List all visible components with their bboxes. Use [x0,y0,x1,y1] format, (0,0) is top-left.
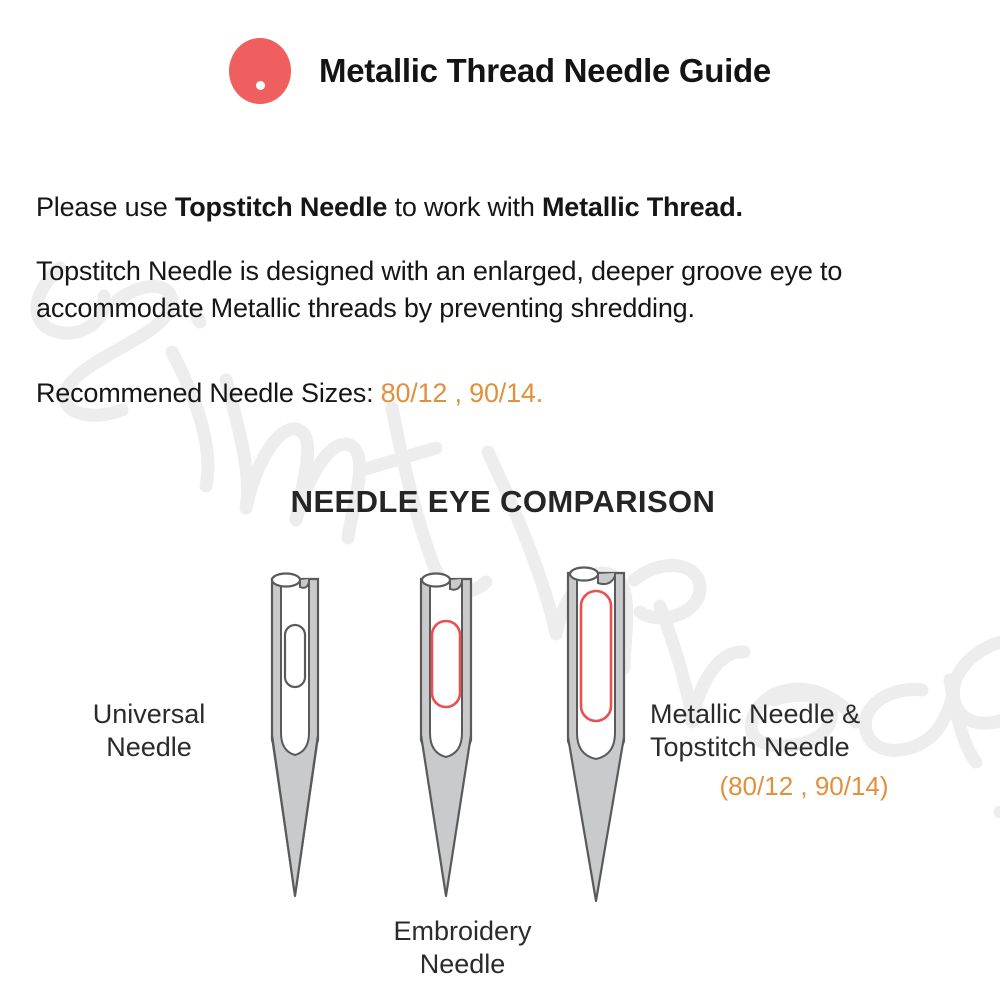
recommended-sizes-line: Recommened Needle Sizes: 80/12 , 90/14. [36,375,543,412]
embroidery-label-line2: Needle [420,949,506,979]
intro-bold-topstitch: Topstitch Needle [175,192,387,222]
embroidery-label-line1: Embroidery [393,916,531,946]
intro-middle: to work with [387,192,542,222]
intro-bold-metallic: Metallic Thread. [542,192,743,222]
document-page: Metallic Thread Needle Guide Please use … [0,0,1000,1000]
intro-sentence: Please use Topstitch Needle to work with… [36,189,743,226]
needle-universal-illustration [262,565,328,905]
recommended-sizes-label: Recommened Needle Sizes: [36,378,381,408]
page-header: Metallic Thread Needle Guide [0,38,1000,104]
page-title: Metallic Thread Needle Guide [319,52,771,90]
universal-label-line2: Needle [106,732,192,762]
metallic-label-sizes: (80/12 , 90/14) [650,764,980,803]
exclamation-circle-icon [229,38,291,104]
needle-label-universal: Universal Needle [36,698,262,764]
metallic-label-line1: Metallic Needle & [650,699,860,729]
universal-label-line1: Universal [93,699,206,729]
needle-embroidery-illustration [411,565,481,905]
recommended-sizes-value: 80/12 , 90/14. [381,378,543,408]
metallic-label-line2: Topstitch Needle [650,732,850,762]
comparison-heading: NEEDLE EYE COMPARISON [0,484,1000,520]
needle-metallic-topstitch-illustration [558,559,634,909]
needle-label-metallic-topstitch: Metallic Needle & Topstitch Needle (80/1… [650,698,980,803]
needle-label-embroidery: Embroidery Needle [300,915,625,981]
intro-before: Please use [36,192,175,222]
description-paragraph: Topstitch Needle is designed with an enl… [36,253,976,327]
